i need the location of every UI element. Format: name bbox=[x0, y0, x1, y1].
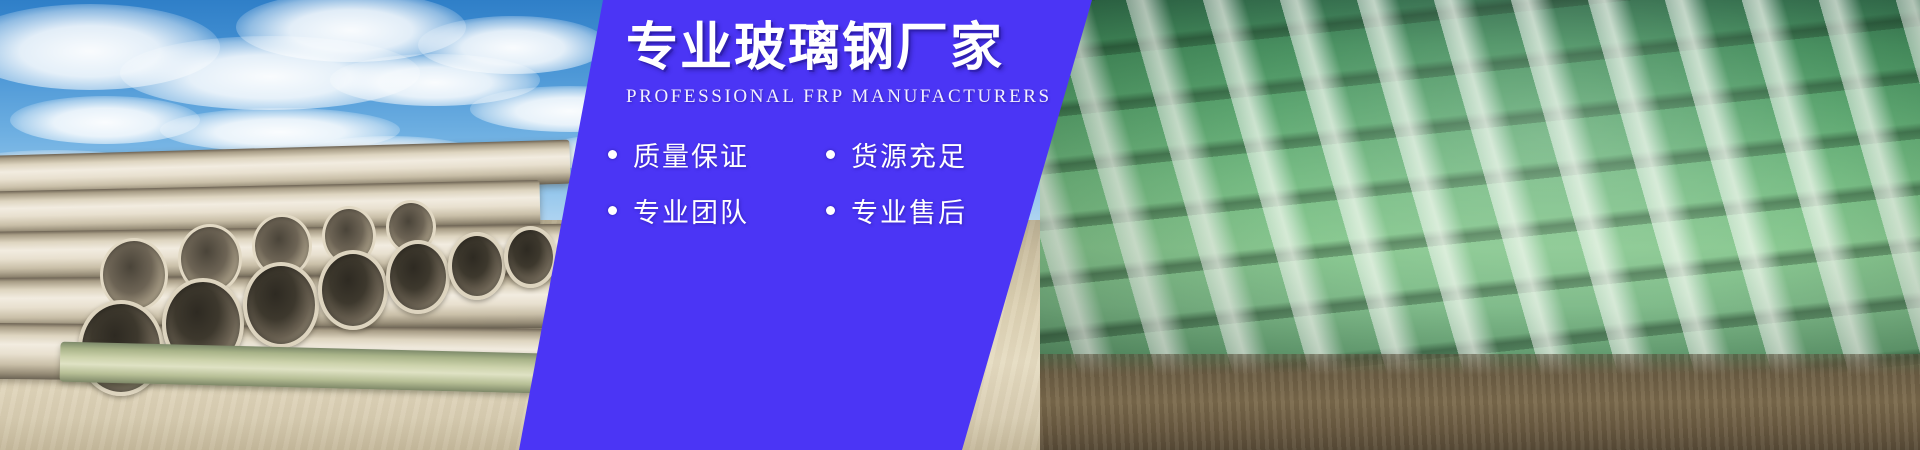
feature-label: 货源充足 bbox=[851, 135, 967, 174]
panel-content: 专业玻璃钢厂家 PROFESSIONAL FRP MANUFACTURERS 质… bbox=[600, 0, 1100, 450]
feature-label: 质量保证 bbox=[633, 135, 749, 174]
pipe-opening bbox=[504, 226, 557, 288]
right-product-photo bbox=[1040, 0, 1920, 450]
feature-label: 专业团队 bbox=[633, 191, 749, 230]
promo-banner: 专业玻璃钢厂家 PROFESSIONAL FRP MANUFACTURERS 质… bbox=[0, 0, 1920, 450]
page-title: 专业玻璃钢厂家 bbox=[626, 22, 1086, 75]
bullet-dot-icon bbox=[608, 150, 617, 159]
cloud-shape bbox=[0, 4, 220, 90]
page-subtitle: PROFESSIONAL FRP MANUFACTURERS bbox=[626, 86, 1086, 108]
feature-list: 质量保证 货源充足 专业团队 专业售后 bbox=[608, 126, 1088, 238]
feature-item-quality: 质量保证 bbox=[608, 135, 826, 174]
cloud-shape bbox=[10, 96, 200, 144]
cloud-shape bbox=[330, 54, 540, 106]
feature-item-team: 专业团队 bbox=[608, 191, 826, 230]
pipe-opening bbox=[243, 262, 319, 348]
bullet-dot-icon bbox=[826, 150, 835, 159]
bullet-dot-icon bbox=[608, 206, 617, 215]
bullet-dot-icon bbox=[826, 206, 835, 215]
feature-label: 专业售后 bbox=[851, 191, 967, 230]
feature-item-supply: 货源充足 bbox=[826, 135, 1044, 174]
pipe-opening bbox=[318, 250, 388, 330]
pipe-opening bbox=[448, 232, 506, 300]
cloud-shape bbox=[418, 16, 608, 74]
dirt-ground bbox=[1040, 354, 1920, 450]
cloud-shape bbox=[120, 36, 420, 110]
feature-item-aftersales: 专业售后 bbox=[826, 191, 1044, 230]
pipe-opening bbox=[386, 240, 450, 314]
cloud-shape bbox=[236, 0, 466, 62]
